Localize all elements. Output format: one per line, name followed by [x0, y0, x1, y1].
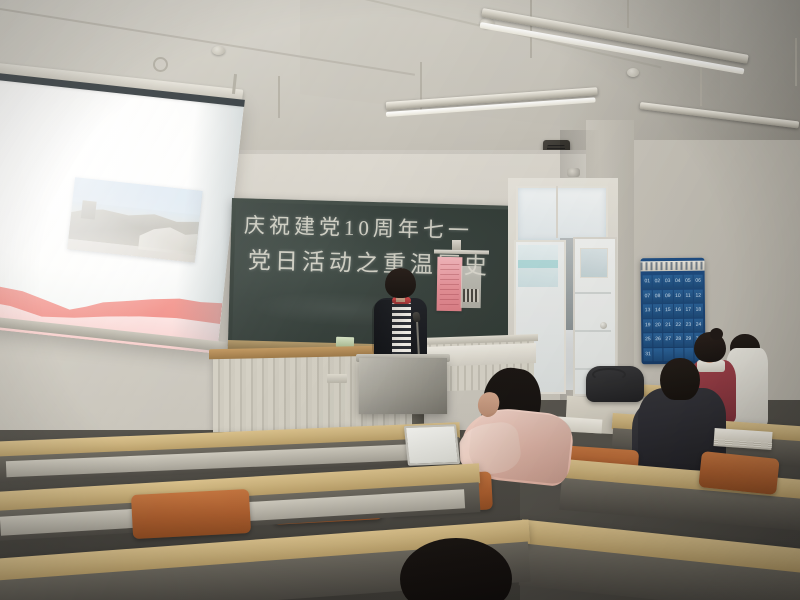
- calendar-day-cell: 04: [673, 275, 682, 289]
- calendar-day-cell: 26: [653, 333, 662, 347]
- calendar-day-cell: 19: [643, 319, 652, 333]
- ceiling-mount: [627, 68, 639, 77]
- microphone-icon: [412, 311, 421, 322]
- radiator-plate: [327, 374, 347, 383]
- student-hair: [660, 358, 700, 400]
- light-suspension-rod: [795, 38, 797, 86]
- door-glass-tint: [518, 260, 558, 268]
- backpack-strap: [592, 368, 626, 381]
- door-sensor-icon: [567, 168, 580, 177]
- podium-shading: [359, 358, 447, 414]
- calendar-day-cell: 18: [694, 304, 703, 318]
- projector-screen: [0, 72, 244, 354]
- calendar-day-cell: 07: [643, 290, 652, 304]
- light-suspension-rod: [530, 0, 532, 58]
- ceiling-mount: [212, 46, 225, 55]
- calendar-day-cell: 22: [674, 318, 683, 332]
- wooden-chair[interactable]: [131, 489, 251, 539]
- calendar-day-cell: 13: [643, 304, 652, 318]
- calendar-day-cell: 17: [684, 304, 693, 318]
- light-suspension-rod: [278, 76, 280, 118]
- calendar-day-cell: 27: [664, 333, 673, 347]
- calendar-day-cell: [654, 348, 663, 362]
- screen-mount-bracket: [153, 57, 168, 72]
- wall-shelf-item: [452, 240, 461, 250]
- calendar-day-cell: 23: [684, 318, 693, 332]
- calendar-day-cell: 02: [653, 275, 662, 289]
- calendar-day-cell: 28: [674, 333, 683, 347]
- calendar-day-cell: 09: [663, 290, 672, 304]
- calendar-day-cell: 14: [653, 304, 662, 318]
- calendar-header-text: [640, 262, 704, 271]
- transom-window: [516, 186, 608, 242]
- chalkboard-text-line-1: 庆祝建党10周年七一: [244, 209, 474, 245]
- presenter-hair: [385, 268, 416, 298]
- calendar-day-cell: 31: [643, 348, 652, 362]
- calendar-day-cell: 05: [683, 275, 692, 289]
- poster-text-lines: [440, 263, 460, 305]
- calendar-day-cell: 01: [643, 275, 652, 289]
- calendar-day-cell: 08: [653, 290, 662, 304]
- calendar-day-cell: 29: [684, 333, 693, 347]
- calendar-day-cell: 10: [673, 289, 682, 303]
- calendar-day-cell: 16: [673, 304, 682, 318]
- calendar-day-cell: 03: [663, 275, 672, 289]
- calendar-day-cell: 06: [693, 275, 702, 289]
- calendar-day-cell: 11: [683, 289, 692, 303]
- transom-mullion: [556, 186, 558, 238]
- light-suspension-rod: [700, 62, 702, 106]
- classroom-scene: 庆祝建党10周年七一 党日活动之重温历史 0102030405060708091…: [0, 0, 800, 600]
- door-rail: [575, 292, 611, 294]
- tablet-device[interactable]: [404, 424, 460, 466]
- student-hair-bun: [710, 328, 723, 340]
- calendar-day-cell: 24: [694, 318, 703, 332]
- light-suspension-rod: [627, 0, 629, 28]
- door-glass: [580, 248, 608, 278]
- calendar-day-cell: 21: [663, 319, 672, 333]
- notice-barcode: [463, 289, 479, 302]
- calendar-day-cell: 25: [643, 333, 652, 347]
- calendar-day-cell: 12: [694, 289, 703, 303]
- calendar-day-cell: 20: [653, 319, 662, 333]
- door-knob[interactable]: [600, 322, 607, 329]
- calendar-day-cell: 15: [663, 304, 672, 318]
- door-rail: [575, 330, 611, 332]
